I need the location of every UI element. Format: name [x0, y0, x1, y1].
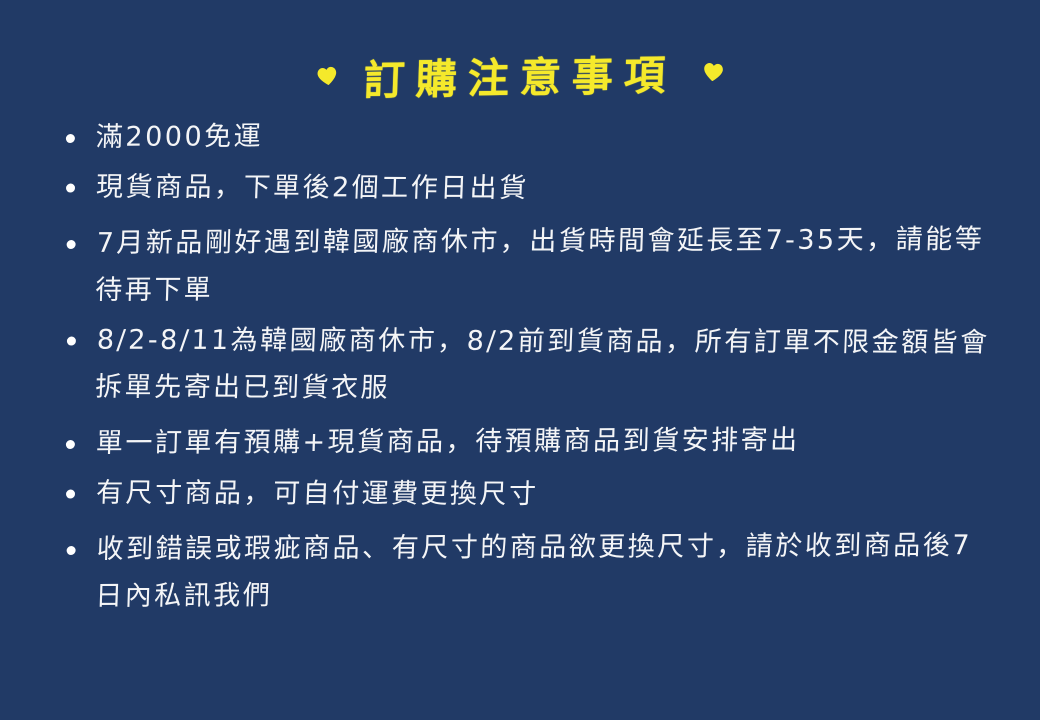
bullet-icon: [66, 490, 75, 499]
bullet-icon: [66, 546, 75, 555]
list-item: 收到錯誤或瑕疵商品、有尺寸的商品欲更換尺寸，請於收到商品後7日內私訊我們: [64, 522, 997, 620]
page-title: 訂購注意事項: [363, 41, 677, 106]
page-title-row: 訂購注意事項: [0, 0, 1040, 74]
list-item: 8/2-8/11為韓國廠商休市，8/2前到貨商品，所有訂單不限金額皆會拆單先寄出…: [64, 317, 997, 414]
list-item-label: 8/2-8/11為韓國廠商休市，8/2前到貨商品，所有訂單不限金額皆會拆單先寄出…: [94, 317, 997, 414]
list-item: 單一訂單有預購+現貨商品，待預購商品到貨安排寄出: [65, 416, 997, 467]
list-item-label: 有尺寸商品，可自付運費更換尺寸: [95, 470, 997, 520]
list-item: 7月新品剛好遇到韓國廠商休市，出貨時間會延長至7-35天，請能等待再下單: [64, 216, 997, 314]
bullet-icon: [67, 337, 76, 346]
list-item-label: 7月新品剛好遇到韓國廠商休市，出貨時間會延長至7-35天，請能等待再下單: [95, 216, 998, 314]
list-item-label: 收到錯誤或瑕疵商品、有尺寸的商品欲更換尺寸，請於收到商品後7日內私訊我們: [95, 522, 998, 620]
list-item-label: 滿2000免運: [95, 110, 997, 161]
heart-icon: [701, 60, 725, 84]
list-item: 有尺寸商品，可自付運費更換尺寸: [65, 470, 997, 520]
list-item-label: 現貨商品，下單後2個工作日出貨: [95, 164, 997, 214]
list-item: 現貨商品，下單後2個工作日出貨: [65, 164, 997, 214]
list-item: 滿2000免運: [65, 110, 997, 161]
bullet-icon: [66, 240, 75, 249]
order-notice-card: 訂購注意事項 滿2000免運 現貨商品，下單後2個工作日出貨 7月新品剛好遇到韓…: [0, 0, 1040, 720]
bullet-icon: [66, 134, 75, 143]
bullet-icon: [66, 440, 75, 449]
heart-icon: [315, 64, 340, 89]
list-item-label: 單一訂單有預購+現貨商品，待預購商品到貨安排寄出: [95, 416, 997, 467]
bullet-icon: [66, 184, 75, 193]
notice-list: 滿2000免運 現貨商品，下單後2個工作日出貨 7月新品剛好遇到韓國廠商休市，出…: [0, 112, 1040, 618]
